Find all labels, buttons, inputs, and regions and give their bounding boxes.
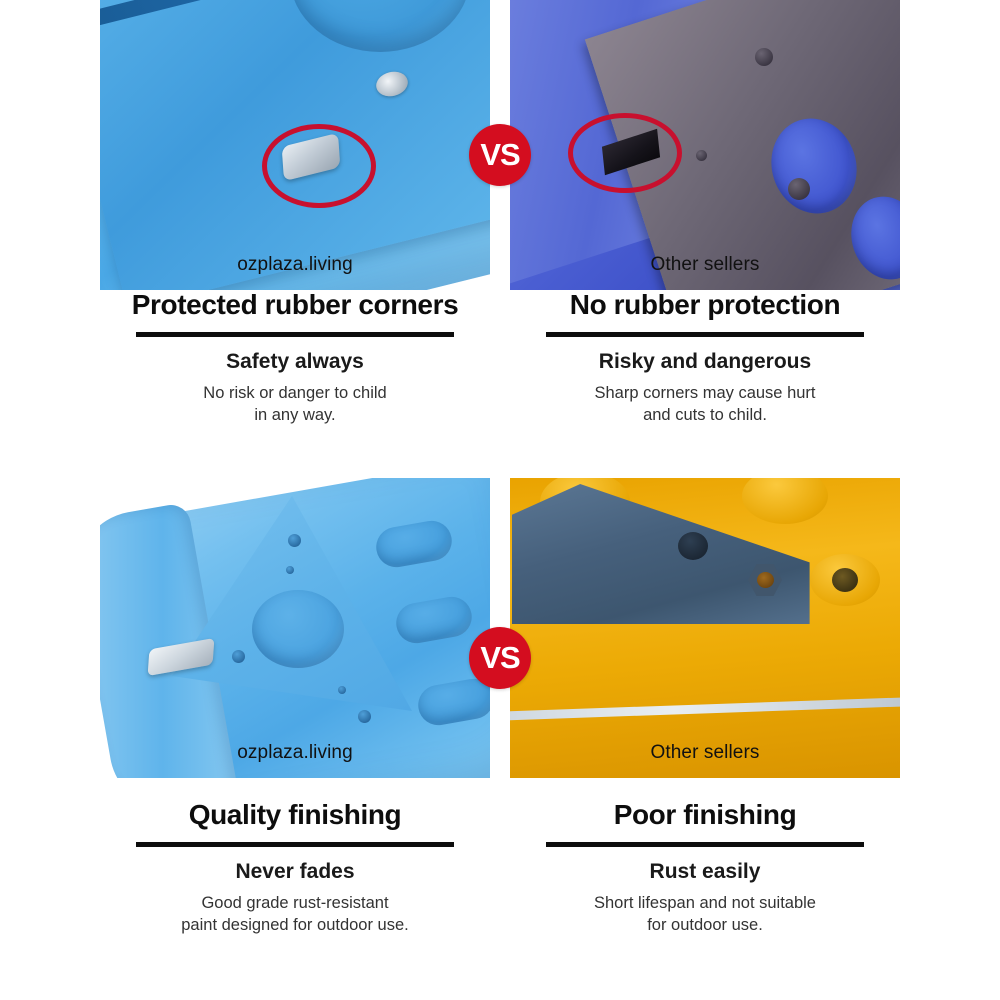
caption-strip-top: Protected rubber corners Safety always N… [0,290,1000,470]
rivet [338,686,346,694]
caption-subtitle: Rust easily [505,860,905,884]
caption-subtitle: Safety always [95,350,495,374]
vs-badge-label: VS [480,137,519,173]
caption-description-line-2: in any way. [254,406,335,424]
caption-title: No rubber protection [505,290,905,321]
comparison-row-finish-quality: ozplaza.living Other sellers [0,478,1000,1000]
caption-subtitle: Risky and dangerous [505,350,905,374]
caption-description: No risk or danger to child in any way. [95,383,495,427]
caption-title: Quality finishing [95,800,495,831]
photo-watermark-ours: ozplaza.living [100,742,490,764]
rivet [358,710,371,723]
photo-strip-bottom: ozplaza.living Other sellers [0,478,1000,778]
caption-ours-corner: Protected rubber corners Safety always N… [95,290,495,426]
photo-strip-top: ozplaza.living Other sellers VS [0,0,1000,290]
bolt-head [788,178,810,200]
vs-badge-bottom: VS [469,627,531,689]
bolt-hole [832,568,858,592]
caption-description-line-2: and cuts to child. [643,406,767,424]
rivet [286,566,294,574]
caption-description: Good grade rust-resistant paint designed… [95,893,495,937]
comparison-row-corner-protection: ozplaza.living Other sellers VS [0,0,1000,470]
caption-description: Short lifespan and not suitable for outd… [505,893,905,937]
caption-ours-finish: Quality finishing Never fades Good grade… [95,800,495,936]
caption-description-line-1: Sharp corners may cause hurt [594,384,815,402]
caption-title: Poor finishing [505,800,905,831]
product-photo-theirs-finish: Other sellers [510,478,900,778]
photo-watermark-theirs: Other sellers [510,742,900,764]
rivet [288,534,301,547]
caption-description-line-2: for outdoor use. [647,916,763,934]
bolt-head [696,150,707,161]
caption-theirs-finish: Poor finishing Rust easily Short lifespa… [505,800,905,936]
caption-description: Sharp corners may cause hurt and cuts to… [505,383,905,427]
caption-divider-rule [136,842,454,847]
vs-badge-top: VS [469,124,531,186]
infographic-sheet: ozplaza.living Other sellers VS [0,0,1000,1000]
caption-description-line-2: paint designed for outdoor use. [181,916,409,934]
red-ellipse-highlight-icon [568,113,682,193]
photo-watermark-ours: ozplaza.living [100,254,490,276]
caption-divider-rule [546,842,864,847]
product-photo-ours-corner: ozplaza.living [100,0,490,290]
red-ellipse-highlight-icon [262,124,376,208]
caption-theirs-corner: No rubber protection Risky and dangerous… [505,290,905,426]
vs-badge-label: VS [480,640,519,676]
caption-description-line-1: Good grade rust-resistant [201,894,388,912]
product-photo-ours-finish: ozplaza.living [100,478,490,778]
rivet [232,650,245,663]
cup-holder-recess [252,590,344,668]
caption-subtitle: Never fades [95,860,495,884]
caption-description-line-1: No risk or danger to child [203,384,386,402]
caption-description-line-1: Short lifespan and not suitable [594,894,816,912]
caption-strip-bottom: Quality finishing Never fades Good grade… [0,800,1000,980]
photo-watermark-theirs: Other sellers [510,254,900,276]
bolt-head [755,48,773,66]
caption-divider-rule [136,332,454,337]
bracket-hole [678,532,708,560]
caption-title: Protected rubber corners [95,290,495,321]
caption-divider-rule [546,332,864,337]
product-photo-theirs-corner: Other sellers [510,0,900,290]
